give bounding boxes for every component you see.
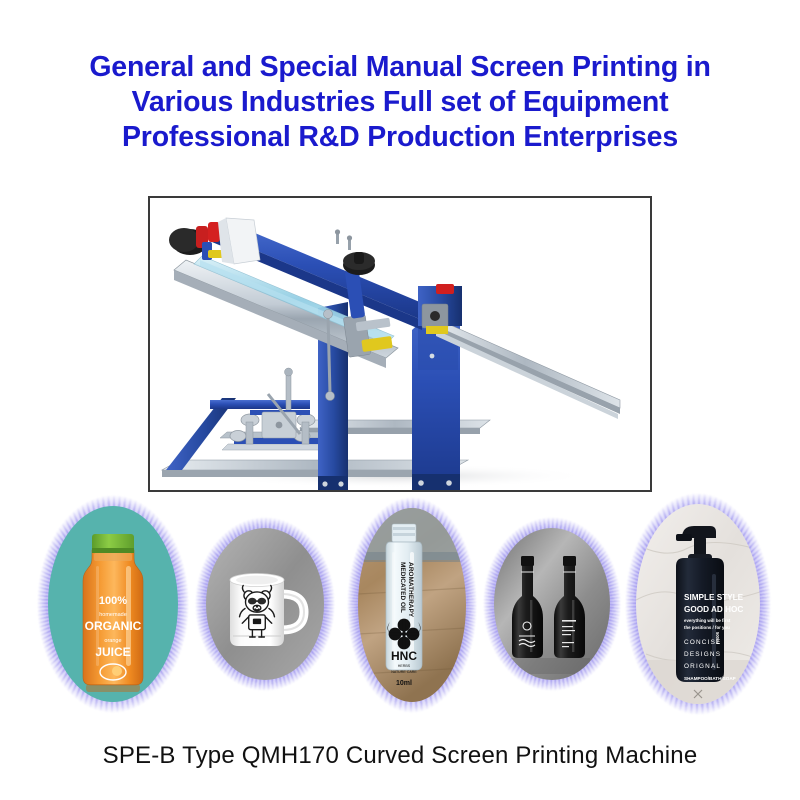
page-title-line-1: General and Special Manual Screen Printi… bbox=[0, 50, 800, 85]
product-banner: General and Special Manual Screen Printi… bbox=[0, 0, 800, 800]
svg-text:homemade: homemade bbox=[99, 612, 127, 618]
svg-text:10ml: 10ml bbox=[396, 680, 412, 687]
svg-text:the positions / for you: the positions / for you bbox=[684, 625, 730, 630]
juice-bottle-illustration: 100% homemade ORGANIC orange JUICE bbox=[48, 506, 178, 702]
svg-text:100%: 100% bbox=[99, 595, 127, 607]
oval-clip: AROMATHERAPY MEDICATED OIL HNC bbox=[358, 508, 466, 702]
pump-bottle-illustration: SIMPLE STYLE GOOD AD HOC everything will… bbox=[636, 504, 760, 704]
page-title-line-3: Professional R&D Production Enterprises bbox=[0, 120, 800, 155]
svg-text:MEDICATED OIL: MEDICATED OIL bbox=[399, 562, 406, 613]
svg-text:SHAMPOO/BATH/SOAP: SHAMPOO/BATH/SOAP bbox=[684, 676, 736, 681]
svg-text:ORIGNAL: ORIGNAL bbox=[684, 663, 721, 670]
oval-clip bbox=[206, 528, 324, 680]
machine-illustration bbox=[150, 198, 650, 490]
svg-text:SIMPLE STYLE: SIMPLE STYLE bbox=[684, 593, 744, 602]
svg-text:500ml: 500ml bbox=[715, 632, 720, 644]
svg-text:HNC: HNC bbox=[391, 649, 417, 663]
thumb-juice-bottle[interactable]: 100% homemade ORGANIC orange JUICE bbox=[48, 506, 178, 702]
thumb-printed-mug[interactable] bbox=[206, 528, 324, 680]
oval-clip: SIMPLE STYLE GOOD AD HOC everything will… bbox=[636, 504, 760, 704]
printed-mug-illustration bbox=[206, 528, 324, 680]
thumb-black-wine-bottles[interactable] bbox=[494, 528, 610, 680]
thumb-black-pump-bottle[interactable]: SIMPLE STYLE GOOD AD HOC everything will… bbox=[636, 504, 760, 704]
svg-text:ORGANIC: ORGANIC bbox=[85, 619, 142, 633]
svg-text:everything will be first: everything will be first bbox=[684, 618, 731, 623]
screen-printing-machine-photo bbox=[150, 198, 650, 490]
product-thumbnail-row: 100% homemade ORGANIC orange JUICE bbox=[0, 498, 800, 710]
oval-clip bbox=[494, 528, 610, 680]
svg-text:orange: orange bbox=[104, 638, 121, 644]
svg-text:GOOD AD HOC: GOOD AD HOC bbox=[684, 605, 743, 614]
product-caption: SPE-B Type QMH170 Curved Screen Printing… bbox=[0, 742, 800, 770]
oval-clip: 100% homemade ORGANIC orange JUICE bbox=[48, 506, 178, 702]
svg-text:DESIGNS: DESIGNS bbox=[684, 651, 721, 658]
svg-text:JUICE: JUICE bbox=[95, 645, 130, 659]
page-title-line-2: Various Industries Full set of Equipment bbox=[0, 85, 800, 120]
wine-bottles-illustration bbox=[494, 528, 610, 680]
svg-text:NATURE CARE: NATURE CARE bbox=[391, 670, 417, 674]
aromatherapy-bottle-illustration: AROMATHERAPY MEDICATED OIL HNC bbox=[358, 508, 466, 702]
thumb-aromatherapy-bottle[interactable]: AROMATHERAPY MEDICATED OIL HNC bbox=[358, 508, 466, 702]
page-title: General and Special Manual Screen Printi… bbox=[0, 50, 800, 155]
svg-text:AROMATHERAPY: AROMATHERAPY bbox=[407, 562, 414, 618]
svg-text:HERBS: HERBS bbox=[398, 664, 411, 668]
hero-image-frame bbox=[148, 196, 652, 492]
